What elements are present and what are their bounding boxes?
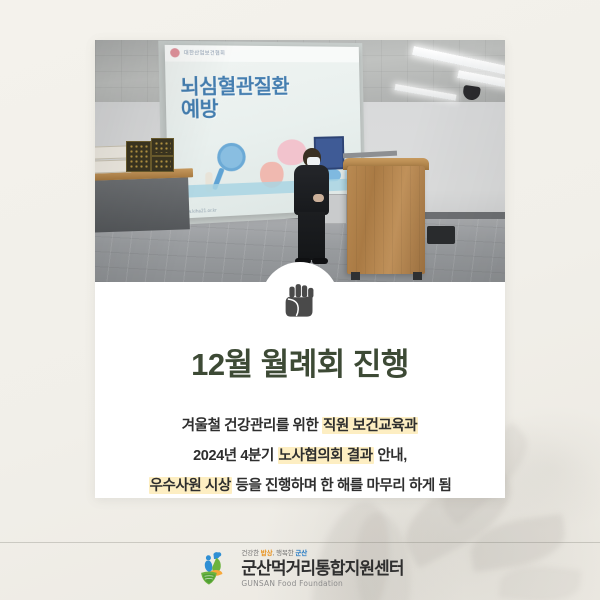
presenter-shoe [312,258,328,264]
presenter-hands [313,194,324,202]
slide-title: 뇌심혈관질환 예방 [180,76,290,122]
gift-box [151,138,174,156]
presenter-jacket [294,165,329,215]
body-text: 겨울철 건강관리를 위한 직원 보건교육과2024년 4분기 노사협의회 결과 … [95,412,505,498]
body-text-run: 등을 진행하며 한 해를 마무리 하게 됨 [232,478,452,494]
tagline-part-1: 건강한 [241,550,260,557]
gunsan-food-foundation-logo-icon [196,550,232,588]
meeting-photo: 대한산업보건협회 뇌심혈관질환 예방 www.kiha21.or.kr 대한산업… [95,40,505,282]
footer-divider [0,542,600,543]
body-text-line-3: 우수사원 시상 등을 진행하며 한 해를 마무리 하게 됨 [95,472,505,498]
highlighted-phrase: 우수사원 시상 [149,477,232,494]
footer-tagline: 건강한 밥상, 행복한 군산 [241,551,403,558]
body-text-run: 2024년 4분기 [193,448,277,464]
raised-fist-icon [280,281,320,321]
body-text-run: 안내, [374,448,407,464]
tagline-word-orange: 밥상 [261,550,273,557]
side-table-body [95,177,190,232]
wooden-podium [347,166,425,274]
slide-title-line-2: 예방 [181,98,290,122]
gift-box [126,141,151,172]
fist-badge [261,262,339,340]
highlighted-phrase: 직원 보건교육과 [322,417,418,434]
floor-speaker [427,226,455,244]
podium-foot [413,272,422,280]
slide-title-line-1: 뇌심혈관질환 [180,76,289,99]
footer-logo: 건강한 밥상, 행복한 군산 군산먹거리통합지원센터 GUNSAN Food F… [0,550,600,588]
body-text-line-2: 2024년 4분기 노사협의회 결과 안내, [95,442,505,472]
tagline-part-2: , 행복한 [273,550,296,557]
slide-logo-dot-icon [170,48,180,57]
highlighted-phrase: 노사협의회 결과 [278,447,374,464]
page-title: 12월 월례회 진행 [95,348,505,382]
tagline-word-blue: 군산 [295,550,307,557]
slide-header-text: 대한산업보건협회 [184,49,226,56]
footer-logo-text: 건강한 밥상, 행복한 군산 군산먹거리통합지원센터 GUNSAN Food F… [241,551,403,587]
body-text-line-1: 겨울철 건강관리를 위한 직원 보건교육과 [95,412,505,442]
brain-illustration [277,139,307,166]
body-text-run: 겨울철 건강관리를 위한 [182,418,322,434]
content-card: 대한산업보건협회 뇌심혈관질환 예방 www.kiha21.or.kr 대한산업… [95,40,505,498]
organization-name: 군산먹거리통합지원센터 [241,560,403,577]
presenter-trousers [298,212,325,260]
podium-foot [351,272,360,280]
gift-box [151,156,174,172]
organization-subtitle: GUNSAN Food Foundation [241,580,403,588]
